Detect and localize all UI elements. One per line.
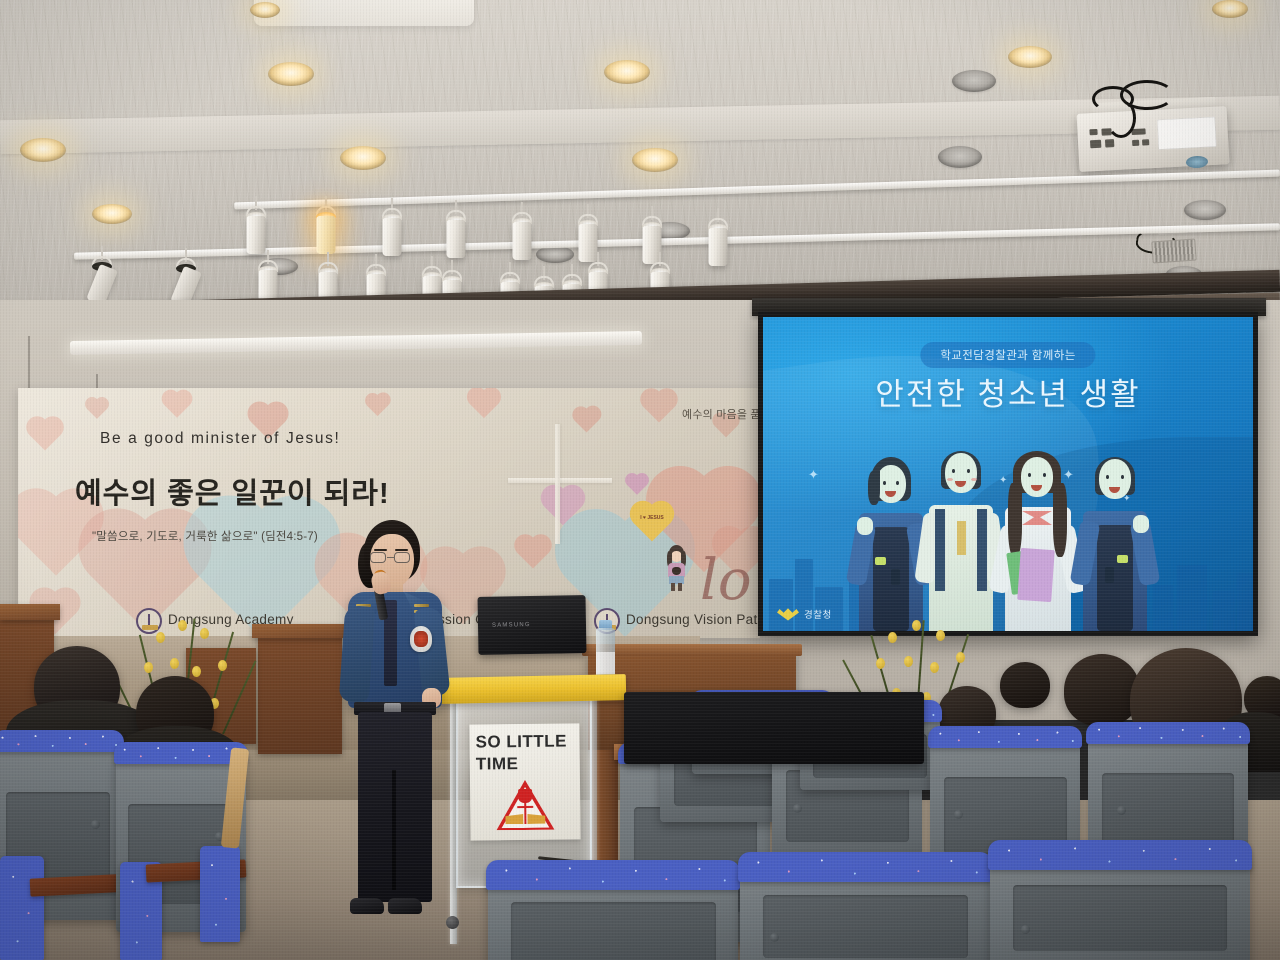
walkie-icon <box>891 569 900 585</box>
badge-icon <box>875 557 886 565</box>
audience-head <box>1000 662 1050 708</box>
wooden-pew-left-top <box>0 604 60 620</box>
pathfinder-triangle-logo <box>496 780 555 833</box>
seat-back-panel <box>511 902 716 960</box>
necktie <box>957 521 966 555</box>
pathfinder-cross-icon <box>517 806 533 808</box>
police-officer-speaker <box>336 520 454 940</box>
seat-armrest-side <box>0 856 44 960</box>
downlight-icon <box>340 146 386 170</box>
downlight-off-icon <box>938 146 982 168</box>
projector-port-icon <box>1142 139 1149 145</box>
downlight-icon <box>1008 46 1052 68</box>
flower-bud-icon <box>200 628 209 639</box>
downlight-icon <box>250 2 280 18</box>
heart-decoration-icon <box>634 505 671 542</box>
officer-shoe-right <box>388 898 422 914</box>
slide-character-male-student <box>919 435 1003 631</box>
rank-insignia <box>414 604 429 607</box>
downlight-icon <box>1212 0 1248 18</box>
book-icon <box>1017 548 1055 602</box>
audience-head <box>1064 654 1140 726</box>
projector-port-icon <box>1131 128 1145 135</box>
seat-back-panel <box>1013 885 1226 951</box>
downlight-off-icon <box>536 246 574 263</box>
wall-mounted-display <box>624 692 924 764</box>
eyebrow <box>395 549 408 551</box>
backpack-strap <box>977 509 987 591</box>
projection-screen: 학교전담경찰관과 함께하는 안전한 청소년 생활 ✦ ✦ ✦ ✦ ✦ <box>758 312 1258 636</box>
auditorium-photo: I ♥ JESUS lo 예수의 마음을 품은 Be a good minist… <box>0 0 1280 960</box>
sparkle-icon: ✦ <box>808 467 819 483</box>
seat-back-panel <box>763 895 968 958</box>
presentation-slide: 학교전담경찰관과 함께하는 안전한 청소년 생활 ✦ ✦ ✦ ✦ ✦ <box>763 317 1253 631</box>
projector-port-icon <box>1132 140 1139 146</box>
building-shape <box>1177 565 1207 631</box>
seat-armrest-side <box>200 846 240 942</box>
downlight-icon <box>268 62 314 86</box>
auditorium-seat[interactable] <box>740 852 990 960</box>
ceiling-diffuser-panel <box>254 0 474 26</box>
sign-line-1: SO LITTLE <box>475 732 567 753</box>
flower-bud-icon <box>912 620 921 631</box>
seat-headrest-rim <box>0 730 124 752</box>
building-shape <box>1237 573 1253 631</box>
eyebrow <box>374 549 387 551</box>
projector-port-icon <box>1090 140 1101 149</box>
flower-bud-icon <box>904 656 913 667</box>
slide-title: 안전한 청소년 생활 <box>875 369 1140 414</box>
seat-headrest-rim <box>114 742 248 764</box>
seat-headrest-rim <box>486 860 740 890</box>
downlight-icon <box>20 138 66 162</box>
flower-bud-icon <box>178 620 187 631</box>
flower-bud-icon <box>156 632 165 643</box>
slide-subtitle-badge: 학교전담경찰관과 함께하는 <box>920 342 1095 368</box>
seat-headrest-rim <box>988 840 1252 870</box>
projector-port-icon <box>1089 129 1097 135</box>
seat-knob-icon <box>954 810 963 819</box>
uniform-badge-patch <box>410 626 432 652</box>
flower-bud-icon <box>192 666 201 677</box>
backpack-strap <box>935 509 945 591</box>
badge-icon <box>1117 555 1128 563</box>
police-eagle-icon <box>777 608 799 621</box>
police-agency-logo: 경찰청 <box>777 607 832 621</box>
seat-headrest-rim <box>928 726 1082 748</box>
banner-scripture-line: "말씀으로, 기도로, 거룩한 삶으로" (딤전4:5-7) <box>92 528 318 544</box>
banner-korean-line: 예수의 좋은 일꾼이 되라! <box>75 470 390 512</box>
projector-lens-icon <box>1186 155 1209 168</box>
flower-bud-icon <box>930 662 939 673</box>
lectern-top-rail <box>440 674 627 704</box>
flower-bud-icon <box>144 662 153 673</box>
so-little-time-sign: SO LITTLE TIME <box>469 723 580 840</box>
wall-speaker <box>1151 238 1196 263</box>
laptop: SAMSUNG <box>478 595 587 655</box>
auditorium-seat[interactable] <box>488 860 738 960</box>
seat-knob-icon <box>1117 806 1126 815</box>
pathfinder-sword-icon <box>524 798 526 824</box>
downlight-icon <box>632 148 678 172</box>
downlight-off-icon <box>952 70 996 92</box>
downlight-icon <box>92 204 132 224</box>
wooden-chair-stage-top <box>252 624 348 638</box>
building-shape <box>1153 585 1173 631</box>
banner-hook <box>28 336 30 388</box>
projector-label <box>1157 117 1216 150</box>
trouser-leg-separation <box>392 770 396 890</box>
police-agency-label: 경찰청 <box>804 607 832 621</box>
podium-top-surface <box>582 644 802 656</box>
cartoon-girl-illustration <box>665 545 687 593</box>
flower-bud-icon <box>936 630 945 641</box>
flower-bud-icon <box>170 658 179 669</box>
flower-bud-icon <box>218 660 227 671</box>
seat-headrest-rim <box>1086 722 1250 744</box>
auditorium-seat[interactable] <box>990 840 1250 960</box>
cross-horizontal-bar <box>508 478 612 483</box>
sign-line-2: TIME <box>476 754 519 774</box>
seat-headrest-rim <box>738 852 992 882</box>
flower-bud-icon <box>956 652 965 663</box>
flower-bud-icon <box>888 632 897 643</box>
wooden-chair-stage <box>258 632 342 754</box>
building-shape <box>1213 591 1235 631</box>
flower-bud-icon <box>876 658 885 669</box>
slide-character-policeman <box>1075 445 1155 631</box>
walkie-icon <box>1105 567 1114 583</box>
i-love-jesus-text: I ♥ JESUS <box>636 515 668 521</box>
building-shape <box>769 579 793 631</box>
glasses-icon <box>370 552 414 563</box>
cross-vertical-bar <box>555 424 560 544</box>
laptop-brand-label: SAMSUNG <box>492 622 531 629</box>
slide-character-female-student <box>995 435 1081 631</box>
officer-shoe-left <box>350 898 384 914</box>
downlight-icon <box>604 60 650 84</box>
i-love-jesus-sticker: I ♥ JESUS <box>636 508 668 536</box>
banner-english-line: Be a good minister of Jesus! <box>100 430 340 448</box>
projector-cable <box>1106 98 1136 138</box>
projector-port-icon <box>1105 139 1114 147</box>
downlight-off-icon <box>1184 200 1226 220</box>
logo-label: Dongsung Vision Pathfi <box>626 612 773 627</box>
